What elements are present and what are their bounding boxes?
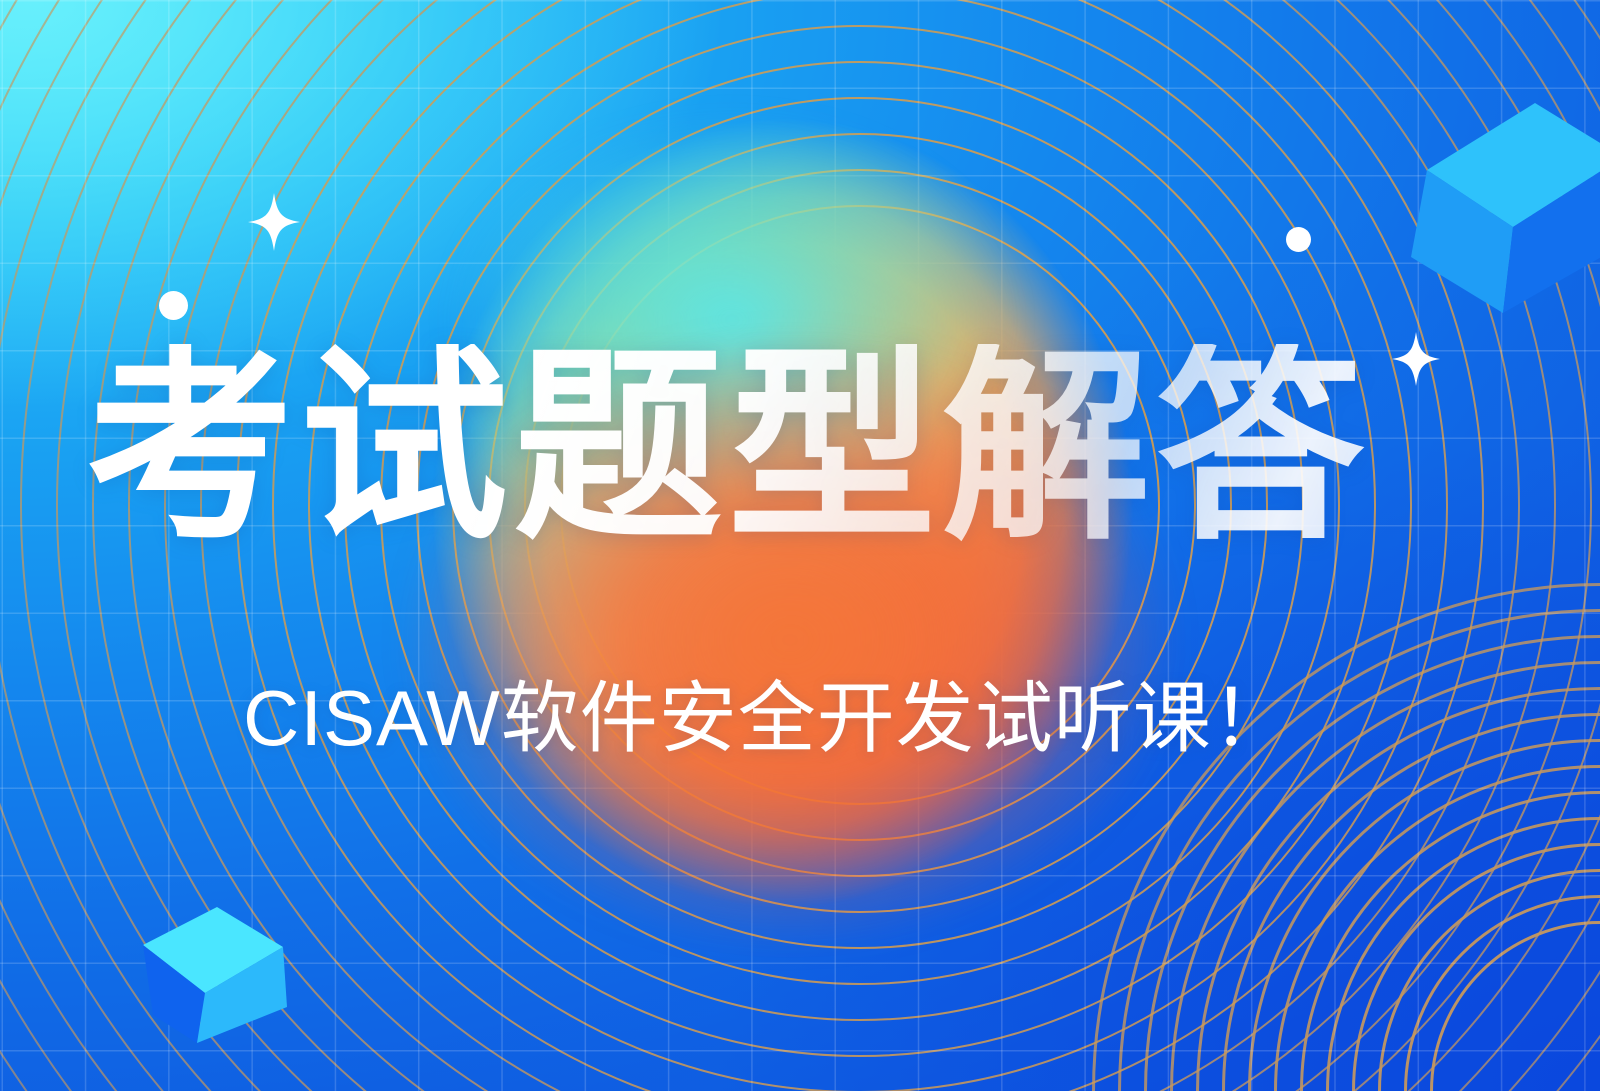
sparkle-top-left-icon bbox=[248, 193, 300, 256]
sparkle-right-icon bbox=[1392, 332, 1440, 391]
cube-top-right bbox=[1385, 95, 1600, 315]
dot-right bbox=[1286, 227, 1311, 252]
cube-bottom-left bbox=[135, 895, 315, 1065]
ring bbox=[236, 0, 1484, 1091]
dot-left bbox=[159, 291, 188, 320]
promotional-banner: 考试题型解答 CISAW软件安全开发试听课！ bbox=[0, 0, 1600, 1091]
